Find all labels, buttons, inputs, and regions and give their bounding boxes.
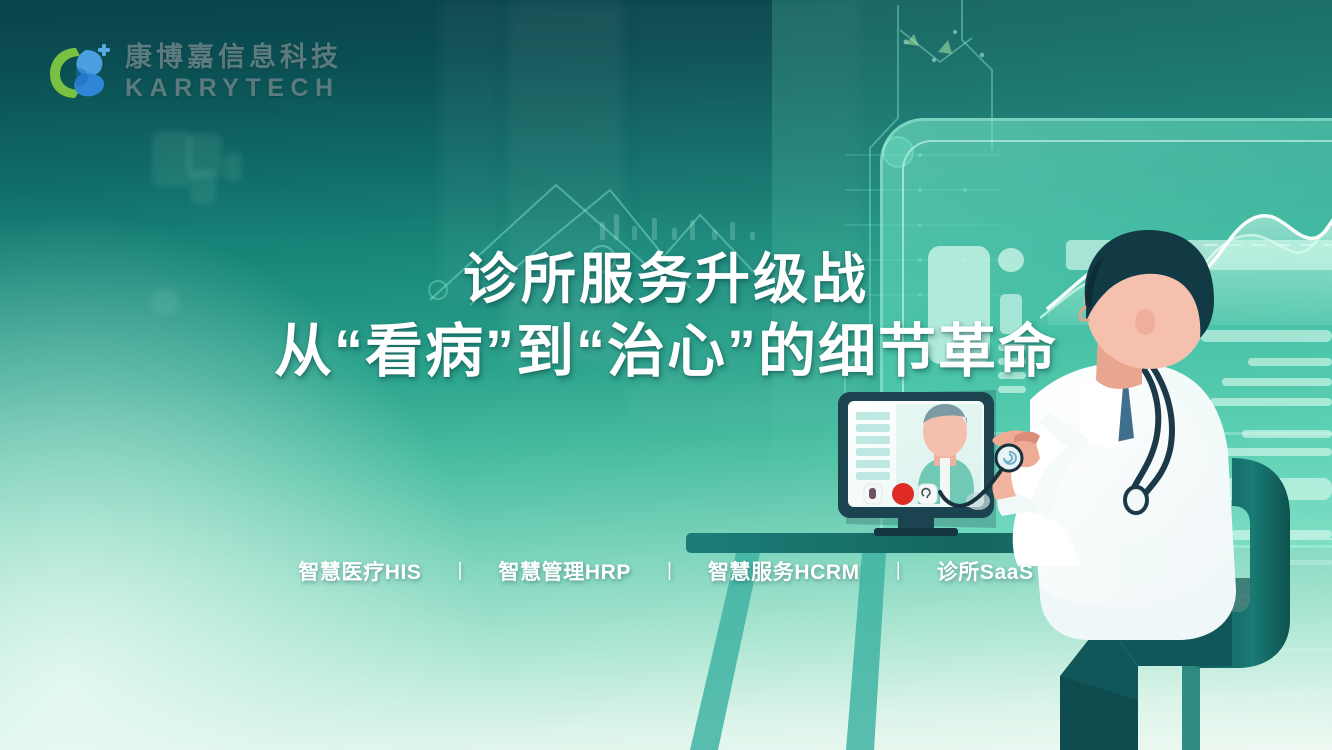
nav-item-saas[interactable]: 诊所SaaS [935,556,1036,586]
page-title-line2: 从“看病”到“治心”的细节革命 [0,318,1332,386]
nav-item-his[interactable]: 智慧医疗HIS [296,556,423,586]
nav-separator-3: | [896,560,901,582]
hero-title-block: 诊所服务升级战 从“看病”到“治心”的细节革命 [0,248,1332,386]
page-title-line1: 诊所服务升级战 [0,248,1332,312]
desktop-monitor-illustration [838,390,996,536]
nav-item-hrp[interactable]: 智慧管理HRP [496,556,633,586]
call-control-bar [864,483,937,505]
nav-separator-2: | [667,560,672,582]
nav-separator-1: | [458,560,463,582]
product-nav: 智慧医疗HIS | 智慧管理HRP | 智慧服务HCRM | 诊所SaaS [0,556,1332,586]
banner-stage: 康博嘉信息科技 KARRYTECH 诊所服务升级战 从“看病”到“治心”的细节革… [0,0,1332,750]
nav-item-hcrm[interactable]: 智慧服务HCRM [706,556,862,586]
